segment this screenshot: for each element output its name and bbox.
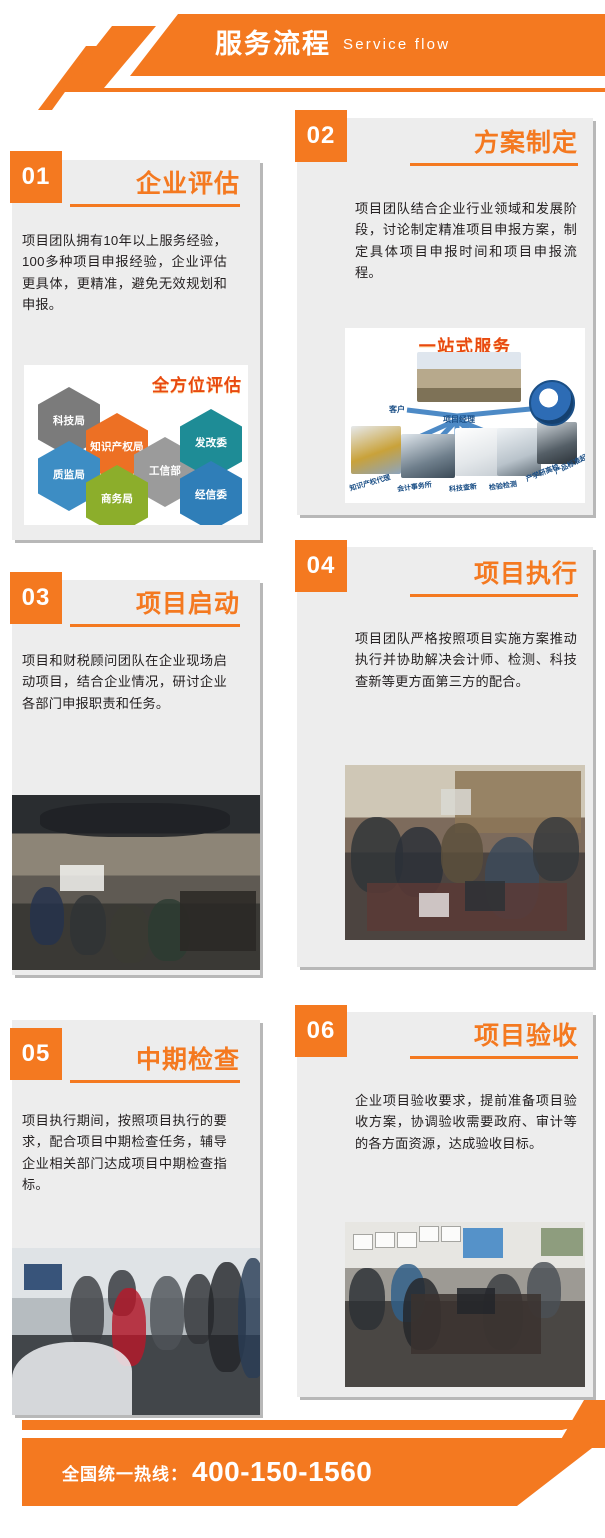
service-thumb-3 bbox=[455, 428, 499, 476]
page-footer: 全国统一热线： 400-150-1560 bbox=[0, 1400, 605, 1538]
header-title-group: 服务流程 Service flow bbox=[215, 16, 450, 72]
step-title-group-03: 项目启动 bbox=[70, 592, 240, 627]
step-title-01: 企业评估 bbox=[70, 172, 240, 197]
step-title-group-04: 项目执行 bbox=[410, 562, 578, 597]
service-node-customer: 客户 bbox=[389, 404, 405, 415]
step-photo-03 bbox=[12, 795, 260, 970]
page-title: 服务流程 bbox=[215, 31, 331, 58]
step-photo-05 bbox=[12, 1248, 260, 1415]
service-node-manager: 项目经理 bbox=[443, 414, 475, 425]
step-number-badge-01: 01 bbox=[10, 151, 62, 203]
title-underline-01 bbox=[70, 204, 240, 207]
step-number-badge-05: 05 bbox=[10, 1028, 62, 1080]
step-body-05: 项目执行期间，按照项目执行的要求，配合项目中期检查任务，辅导企业相关部门达成项目… bbox=[22, 1110, 227, 1196]
step-body-04: 项目团队严格按照项目实施方案推动执行并协助解决会计师、检测、科技查新等更方面第三… bbox=[355, 628, 577, 692]
step-title-group-05: 中期检查 bbox=[70, 1048, 240, 1083]
assessment-hex-diagram: 全方位评估 科技局 知识产权局 质监局 工信部 商务局 发改委 经信委 bbox=[24, 365, 248, 525]
hotline-number[interactable]: 400-150-1560 bbox=[192, 1456, 372, 1488]
hotline-label: 全国统一热线： bbox=[62, 1460, 188, 1485]
page-subtitle: Service flow bbox=[343, 37, 450, 52]
step-body-02: 项目团队结合企业行业领域和发展阶段，讨论制定精准项目申报方案，制定具体项目申报时… bbox=[355, 198, 577, 284]
title-underline-02 bbox=[410, 163, 578, 166]
step-number-badge-04: 04 bbox=[295, 540, 347, 592]
page-header: 服务流程 Service flow bbox=[0, 0, 605, 110]
step-body-03: 项目和财税顾问团队在企业现场启动项目，结合企业情况，研讨企业各部门申报职责和任务… bbox=[22, 650, 227, 714]
service-thumb-2 bbox=[401, 434, 455, 478]
step-title-04: 项目执行 bbox=[410, 562, 578, 587]
step-title-05: 中期检查 bbox=[70, 1048, 240, 1073]
step-number-badge-06: 06 bbox=[295, 1005, 347, 1057]
step-number-badge-02: 02 bbox=[295, 110, 347, 162]
step-title-group-02: 方案制定 bbox=[410, 131, 578, 166]
step-body-01: 项目团队拥有10年以上服务经验，100多种项目申报经验，企业评估更具体，更精准，… bbox=[22, 230, 227, 316]
title-underline-04 bbox=[410, 594, 578, 597]
step-title-group-01: 企业评估 bbox=[70, 172, 240, 207]
step-number-badge-03: 03 bbox=[10, 572, 62, 624]
step-title-03: 项目启动 bbox=[70, 592, 240, 617]
title-underline-05 bbox=[70, 1080, 240, 1083]
hex-diagram-heading: 全方位评估 bbox=[152, 371, 242, 396]
step-title-group-06: 项目验收 bbox=[410, 1024, 578, 1059]
service-thumb-1 bbox=[351, 426, 401, 474]
step-title-06: 项目验收 bbox=[410, 1024, 578, 1049]
step-body-06: 企业项目验收要求，提前准备项目验收方案，协调验收需要政府、审计等的各方面资源，达… bbox=[355, 1090, 577, 1154]
footer-accent-stripe bbox=[22, 1420, 605, 1430]
step-photo-06 bbox=[345, 1222, 585, 1387]
title-underline-06 bbox=[410, 1056, 578, 1059]
step-title-02: 方案制定 bbox=[410, 131, 578, 156]
step-photo-04 bbox=[345, 765, 585, 940]
onestop-service-diagram: 一站式服务 客户 项目经理 知识产权代理 会计事务所 科技查新 检 bbox=[345, 328, 585, 503]
service-thumb-4 bbox=[497, 428, 541, 476]
iso-seal-icon bbox=[529, 380, 575, 426]
hotline-group: 全国统一热线： 400-150-1560 bbox=[62, 1438, 372, 1506]
title-underline-03 bbox=[70, 624, 240, 627]
